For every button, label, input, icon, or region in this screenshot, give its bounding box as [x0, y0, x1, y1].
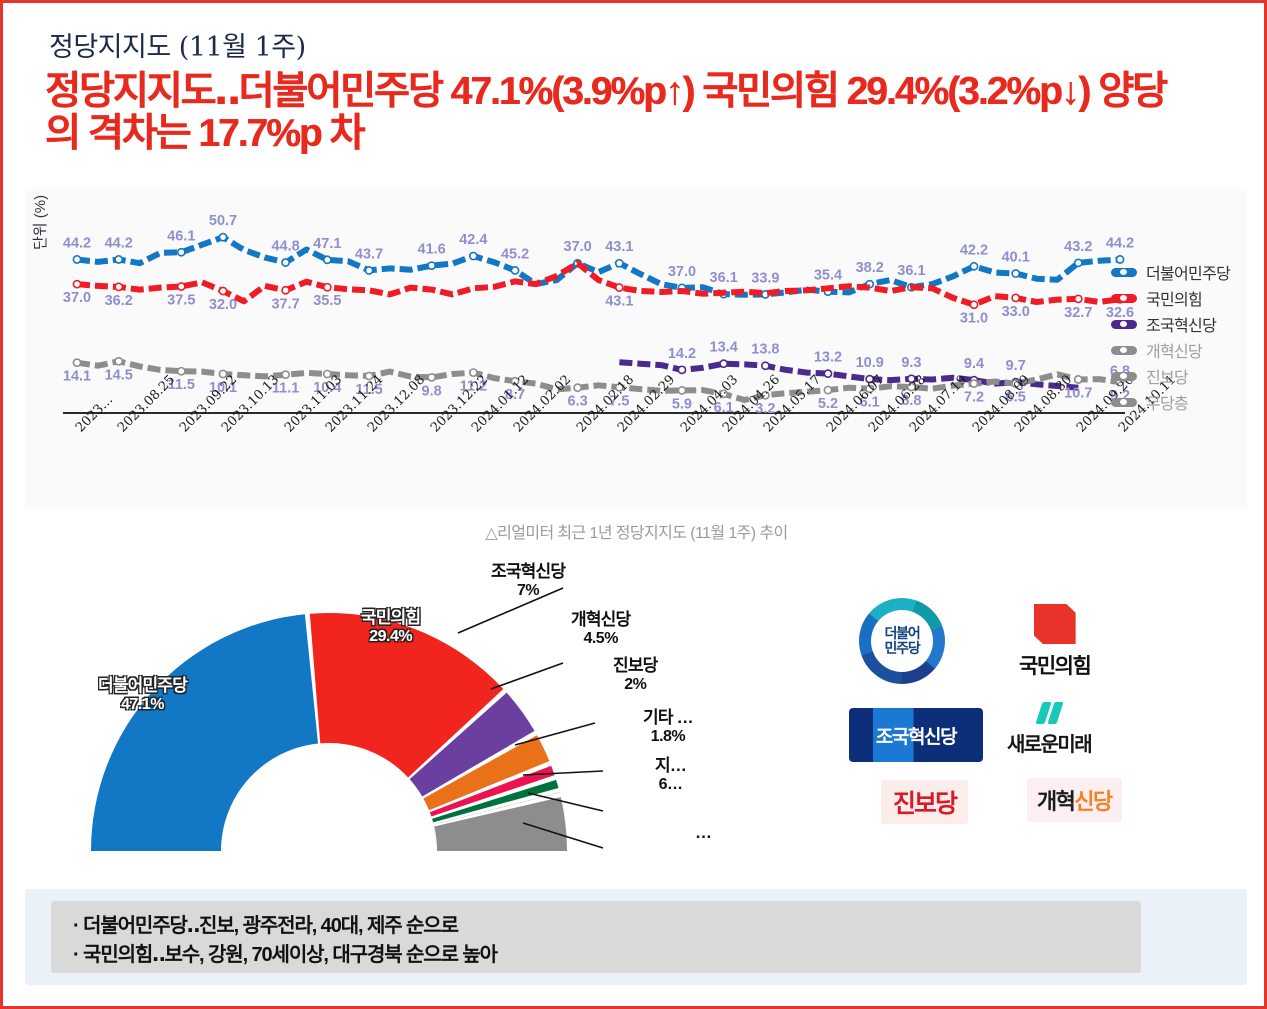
donut-label-4: 진보당2% [613, 651, 658, 694]
summary-line-2: · 국민의힘‥보수, 강원, 70세이상, 대구경북 순으로 높아 [73, 941, 1141, 970]
donut-label-name: 지… [655, 751, 686, 776]
legend-label: 무당층 [1146, 390, 1188, 414]
donut-label-name: 기타 … [643, 703, 693, 728]
data-label: 33.0 [1002, 304, 1030, 320]
data-label: 36.2 [105, 293, 133, 309]
logo-democratic-party: 더불어 민주당 [859, 598, 945, 684]
party-logo-grid: 더불어 민주당 국민의힘 조국혁신당 새로운미래 진보당 개혁신당 [849, 598, 1149, 843]
donut-label-name: 조국혁신당 [491, 557, 565, 582]
donut-label-1: 국민의힘29.4% [361, 603, 420, 646]
data-label: 10.9 [856, 355, 884, 371]
footer-panel: · 더불어민주당‥진보, 광주전라, 40대, 제주 순으로 · 국민의힘‥보수… [25, 889, 1247, 985]
data-label: 6.3 [568, 394, 588, 410]
half-donut-chart: 더불어민주당47.1%국민의힘29.4%조국혁신당7%개혁신당4.5%진보당2%… [43, 551, 743, 881]
democratic-ring-icon: 더불어 민주당 [859, 598, 945, 684]
donut-label-value: 1.8% [643, 728, 693, 746]
legend-label: 조국혁신당 [1146, 312, 1216, 336]
kicker-title: 정당지지도 (11월 1주) [49, 25, 306, 64]
data-label: 37.7 [271, 296, 299, 312]
data-label: 13.2 [814, 350, 842, 366]
legend-swatch-icon [1111, 268, 1137, 277]
donut-svg [43, 551, 743, 881]
callout-leader-line [491, 663, 563, 689]
data-label: 43.1 [605, 294, 633, 310]
data-label: 37.5 [167, 293, 195, 309]
legend-item-1[interactable]: 국민의힘 [1111, 285, 1251, 311]
donut-label-6: 지…6… [655, 751, 686, 794]
donut-segment[interactable] [91, 614, 318, 851]
legend-item-2[interactable]: 조국혁신당 [1111, 311, 1251, 337]
donut-label-value: 4.5% [571, 630, 630, 648]
new-future-mark-icon [1035, 702, 1063, 724]
data-label: 14.2 [668, 346, 696, 362]
logo-reform-party: 개혁신당 [1027, 778, 1122, 822]
legend-swatch-icon [1111, 346, 1137, 355]
chart-legend: 더불어민주당국민의힘조국혁신당개혁신당진보당무당층 [1111, 259, 1251, 415]
legend-swatch-icon [1111, 320, 1137, 329]
donut-label-value: 29.4% [361, 628, 420, 646]
donut-label-0: 더불어민주당47.1% [98, 671, 187, 714]
summary-line-1: · 더불어민주당‥진보, 광주전라, 40대, 제주 순으로 [73, 912, 1141, 941]
page-title: 정당지지도‥더불어민주당 47.1%(3.9%p↑) 국민의힘 29.4%(3.… [45, 71, 1195, 155]
data-label: 5.2 [818, 396, 838, 412]
logo-progressive-party: 진보당 [881, 780, 968, 824]
data-label: 31.0 [960, 311, 988, 327]
legend-label: 더불어민주당 [1146, 260, 1230, 284]
donut-label-value: 2% [613, 676, 658, 694]
donut-label-name: 개혁신당 [571, 605, 630, 630]
donut-label-value: 6… [655, 776, 686, 794]
data-label: 32.7 [1064, 305, 1092, 321]
ppp-mark-icon [1034, 604, 1076, 644]
x-axis-labels: 2023…2023.08.252023.09.222023.10.132023.… [25, 189, 1247, 279]
legend-item-5[interactable]: 무당층 [1111, 389, 1251, 415]
y-axis-label: 단위 (%) [29, 195, 50, 250]
logo-people-power-party: 국민의힘 [1019, 604, 1090, 680]
data-label: 14.5 [105, 367, 133, 383]
infographic-page: 정당지지도 (11월 1주) 정당지지도‥더불어민주당 47.1%(3.9%p↑… [0, 0, 1267, 1009]
donut-label-2: 조국혁신당7% [491, 557, 565, 600]
data-label: 37.0 [63, 290, 91, 306]
donut-label-value: 7% [491, 582, 565, 600]
logo-rebuilding-korea-party: 조국혁신당 [849, 708, 983, 762]
data-label: 32.0 [209, 297, 237, 313]
legend-item-3[interactable]: 개혁신당 [1111, 337, 1251, 363]
legend-swatch-icon [1111, 372, 1137, 381]
legend-label: 국민의힘 [1146, 286, 1202, 310]
data-label: 5.9 [672, 396, 692, 412]
donut-label-7: … [695, 823, 711, 843]
donut-label-name: 더불어민주당 [98, 671, 187, 696]
data-label: 35.5 [313, 293, 341, 309]
donut-label-name: … [695, 823, 711, 843]
democratic-label: 더불어 민주당 [871, 610, 933, 672]
data-label: 9.3 [901, 355, 921, 371]
logo-new-future-party: 새로운미래 [1007, 702, 1091, 757]
chart-caption: △리얼미터 최근 1년 정당지지도 (11월 1주) 추이 [3, 519, 1267, 543]
donut-label-name: 진보당 [613, 651, 658, 676]
data-label: 9.4 [964, 356, 984, 372]
legend-swatch-icon [1111, 294, 1137, 303]
legend-label: 개혁신당 [1146, 338, 1202, 362]
reform-label: 개혁신당 [1027, 778, 1122, 822]
donut-label-value: 47.1% [98, 696, 187, 714]
data-label: 14.1 [63, 369, 91, 385]
data-label: 7.2 [964, 390, 984, 406]
donut-label-5: 기타 …1.8% [643, 703, 693, 746]
legend-item-0[interactable]: 더불어민주당 [1111, 259, 1251, 285]
line-chart-panel: 44.244.246.150.744.847.143.741.642.445.2… [25, 189, 1247, 509]
donut-label-name: 국민의힘 [361, 603, 420, 628]
data-label: 13.8 [751, 342, 779, 358]
legend-swatch-icon [1111, 398, 1137, 407]
data-label: 13.4 [710, 340, 738, 356]
legend-label: 진보당 [1146, 364, 1188, 388]
summary-box: · 더불어민주당‥진보, 광주전라, 40대, 제주 순으로 · 국민의힘‥보수… [51, 901, 1141, 973]
legend-item-4[interactable]: 진보당 [1111, 363, 1251, 389]
donut-label-3: 개혁신당4.5% [571, 605, 630, 648]
